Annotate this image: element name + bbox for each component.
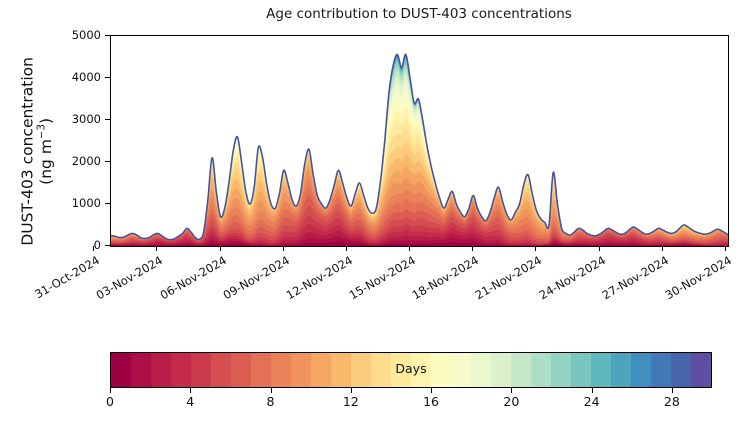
colorbar-band: [691, 353, 711, 387]
x-tick-label: 18-Nov-2024: [408, 253, 481, 303]
y-axis-label-line2: (ng m−3): [37, 26, 55, 276]
colorbar-tick-label: 12: [343, 394, 359, 409]
colorbar-band: [511, 353, 531, 387]
colorbar-band: [131, 353, 151, 387]
colorbar-tick-label: 28: [664, 394, 680, 409]
y-tick-label: 0: [94, 238, 101, 252]
colorbar-band: [431, 353, 451, 387]
colorbar-tick-label: 24: [584, 394, 600, 409]
colorbar-tick-label: 20: [503, 394, 519, 409]
colorbar-band: [411, 353, 431, 387]
colorbar-band: [631, 353, 651, 387]
x-tick-label: 30-Nov-2024: [661, 253, 734, 303]
colorbar-band: [571, 353, 591, 387]
plot-area: [110, 35, 729, 247]
colorbar-band: [251, 353, 271, 387]
x-tick-label: 24-Nov-2024: [535, 253, 608, 303]
colorbar-band: [111, 353, 131, 387]
colorbar-band: [551, 353, 571, 387]
colorbar-band: [331, 353, 351, 387]
y-axis-label-line1: DUST-403 concentration: [19, 57, 37, 246]
y-tick-label: 3000: [72, 112, 101, 126]
colorbar-tick-mark: [592, 388, 593, 393]
x-tick-label: 27-Nov-2024: [598, 253, 671, 303]
y-tick-label: 5000: [72, 28, 101, 42]
colorbar-tick-label: 4: [186, 394, 194, 409]
colorbar-band: [471, 353, 491, 387]
colorbar-tick-mark: [351, 388, 352, 393]
colorbar-tick-mark: [271, 388, 272, 393]
x-tick-label: 03-Nov-2024: [92, 253, 165, 303]
colorbar-band: [451, 353, 471, 387]
colorbar-band: [671, 353, 691, 387]
stacked-area-series: [111, 36, 728, 246]
colorbar-tick-label: 16: [423, 394, 439, 409]
y-tick-label: 1000: [72, 196, 101, 210]
x-tick-label: 12-Nov-2024: [282, 253, 355, 303]
colorbar-band: [351, 353, 371, 387]
colorbar-tick-mark: [110, 388, 111, 393]
x-tick-label: 09-Nov-2024: [219, 253, 292, 303]
colorbar-band: [371, 353, 391, 387]
chart-title: Age contribution to DUST-403 concentrati…: [110, 6, 728, 22]
colorbar-band: [391, 353, 411, 387]
colorbar-band: [531, 353, 551, 387]
y-tick-label: 4000: [72, 70, 101, 84]
colorbar-band: [231, 353, 251, 387]
colorbar-band: [291, 353, 311, 387]
colorbar-band: [151, 353, 171, 387]
y-axis-label: DUST-403 concentration (ng m−3): [19, 26, 56, 276]
colorbar-band: [211, 353, 231, 387]
x-tick-label: 15-Nov-2024: [345, 253, 418, 303]
colorbar-tick-mark: [190, 388, 191, 393]
colorbar-tick-mark: [511, 388, 512, 393]
colorbar[interactable]: [110, 352, 712, 388]
chart-figure: Age contribution to DUST-403 concentrati…: [0, 0, 739, 425]
colorbar-band: [651, 353, 671, 387]
colorbar-tick-mark: [672, 388, 673, 393]
colorbar-band: [611, 353, 631, 387]
colorbar-band: [171, 353, 191, 387]
x-tick-mark: [93, 246, 94, 251]
colorbar-band: [271, 353, 291, 387]
colorbar-tick-label: 0: [106, 394, 114, 409]
colorbar-tick-label: 8: [267, 394, 275, 409]
colorbar-band: [491, 353, 511, 387]
colorbar-band: [191, 353, 211, 387]
y-tick-label: 2000: [72, 154, 101, 168]
colorbar-band: [591, 353, 611, 387]
x-tick-label: 21-Nov-2024: [472, 253, 545, 303]
x-tick-label: 06-Nov-2024: [156, 253, 229, 303]
colorbar-tick-mark: [431, 388, 432, 393]
colorbar-band: [311, 353, 331, 387]
plot-clip: [111, 36, 728, 246]
